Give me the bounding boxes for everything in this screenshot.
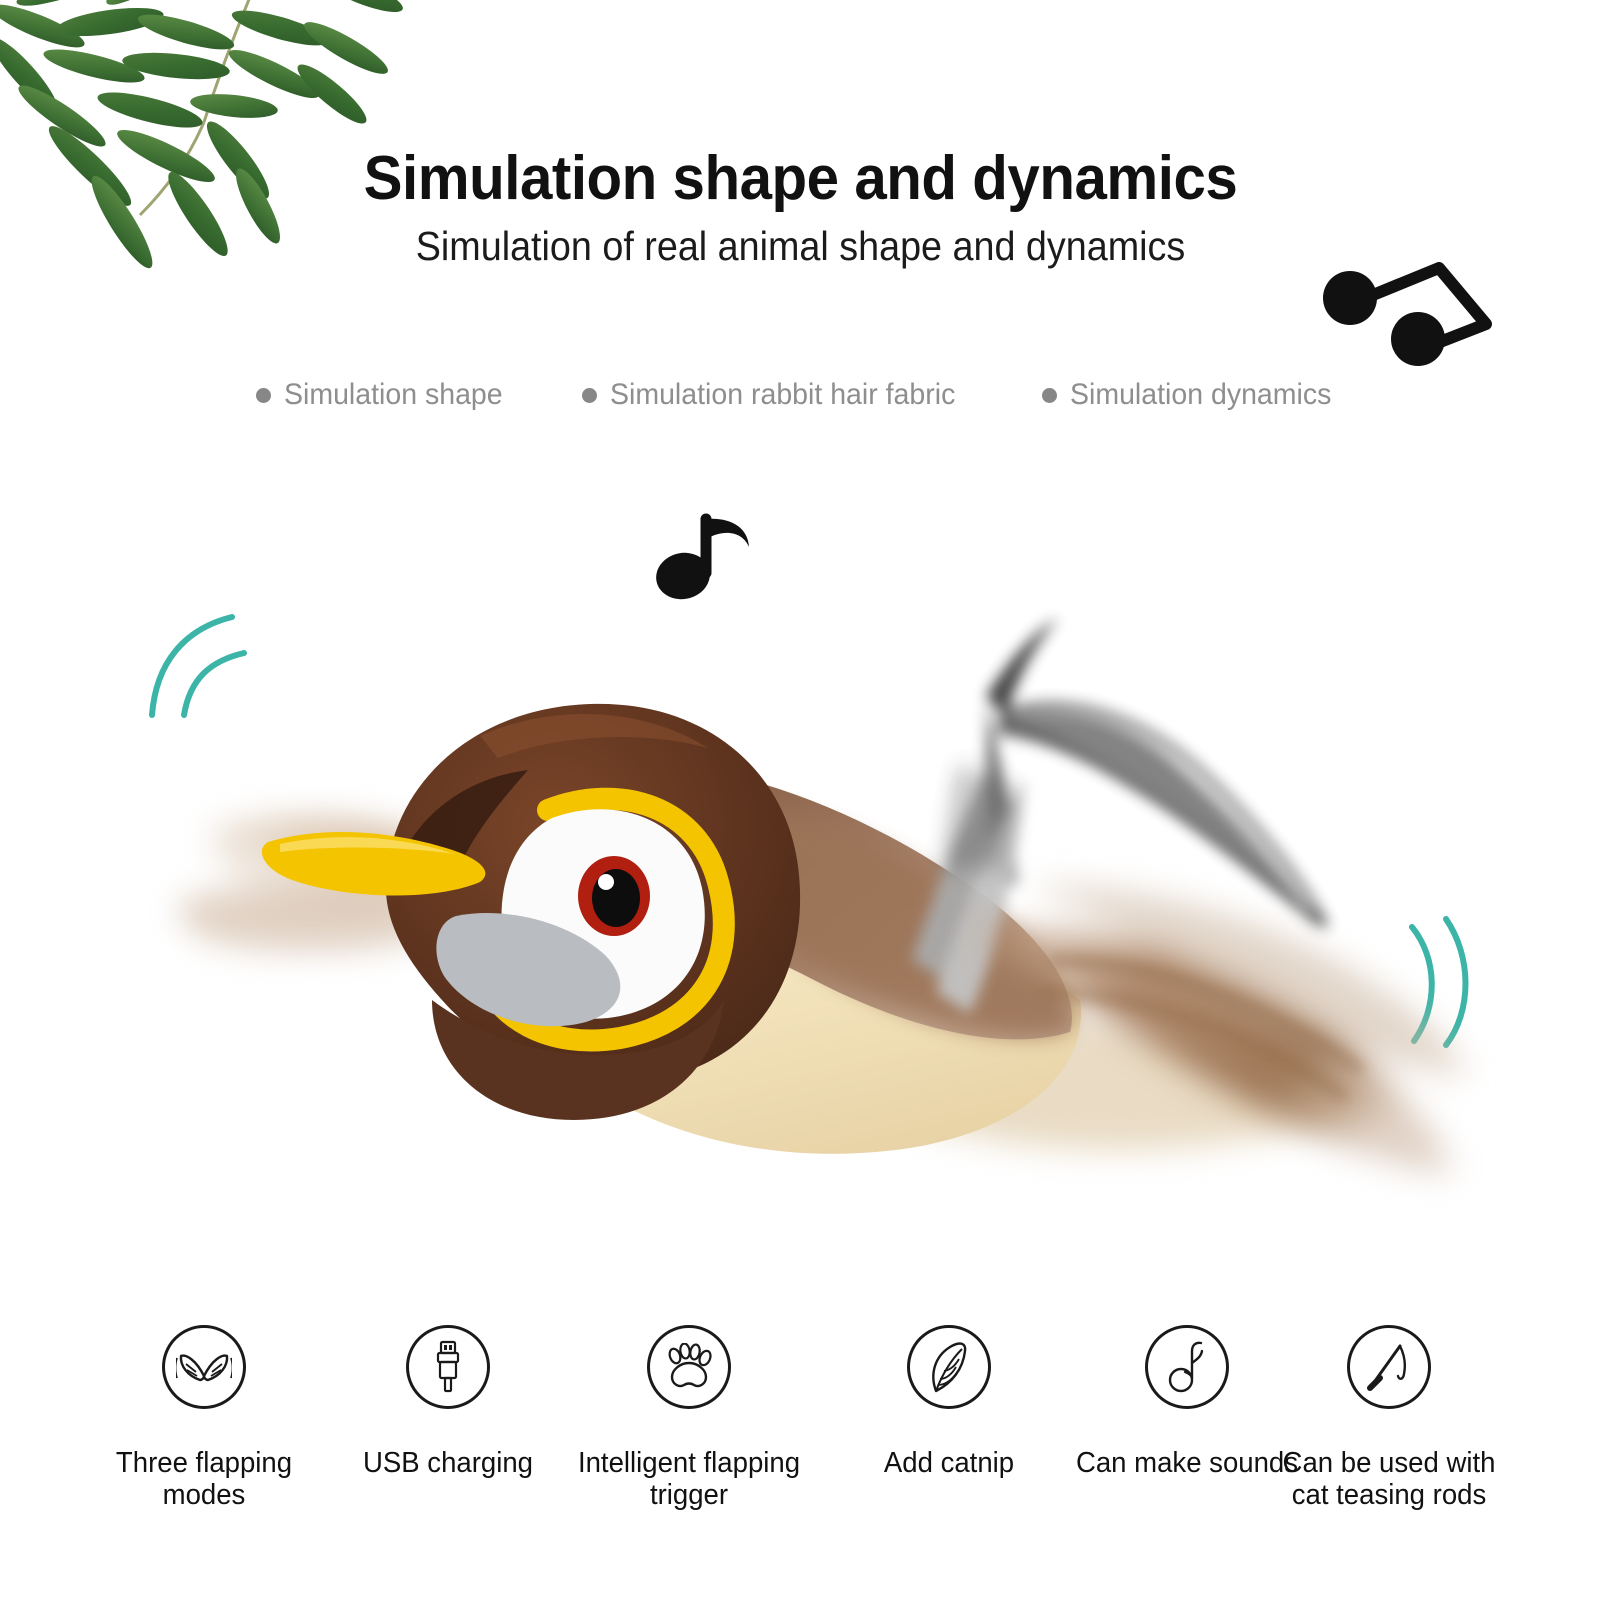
leaf-icon-circle — [907, 1325, 991, 1409]
teasing-rod-icon-circle — [1347, 1325, 1431, 1409]
usb-plug-icon-circle — [406, 1325, 490, 1409]
flapping-wings-icon — [176, 1346, 232, 1388]
page-subtitle: Simulation of real animal shape and dyna… — [64, 223, 1537, 270]
feature-intelligent-flapping-trigger[interactable]: Intelligent flapping trigger — [564, 1300, 814, 1512]
feature-label: Intelligent flapping trigger — [570, 1447, 808, 1512]
eighth-music-note-icon — [652, 505, 757, 600]
bullet-label: Simulation dynamics — [1070, 378, 1331, 412]
bullet-item-simulation-dynamics: Simulation dynamics — [1042, 378, 1345, 412]
bullet-label: Simulation rabbit hair fabric — [610, 378, 955, 412]
bird-eye — [578, 856, 650, 936]
flapping-wings-icon-circle — [162, 1325, 246, 1409]
music-note-icon-circle — [1145, 1325, 1229, 1409]
paw-print-icon-circle — [647, 1325, 731, 1409]
music-note-icon — [1168, 1341, 1206, 1393]
bullet-label: Simulation shape — [284, 378, 503, 412]
feature-label: Add catnip — [830, 1447, 1068, 1479]
teasing-rod-icon — [1366, 1342, 1412, 1392]
feature-icon-row: Three flapping modes USB charging — [0, 1300, 1601, 1560]
flapping-bird-cat-toy — [150, 600, 1510, 1220]
paw-print-icon — [664, 1343, 714, 1391]
feature-cat-teasing-rods[interactable]: Can be used with cat teasing rods — [1264, 1300, 1514, 1512]
feature-label: USB charging — [329, 1447, 567, 1479]
feature-usb-charging[interactable]: USB charging — [323, 1300, 573, 1479]
bullet-item-simulation-shape: Simulation shape — [256, 378, 514, 412]
feature-bullet-row: Simulation shape Simulation rabbit hair … — [0, 378, 1601, 412]
page-title: Simulation shape and dynamics — [48, 143, 1553, 214]
product-marketing-page: Simulation shape and dynamics Simulation… — [0, 0, 1601, 1601]
bullet-dot-icon — [582, 388, 597, 403]
usb-plug-icon — [431, 1340, 465, 1394]
feature-add-catnip[interactable]: Add catnip — [824, 1300, 1074, 1479]
double-music-note-icon — [1318, 262, 1498, 372]
leaf-icon — [928, 1341, 970, 1393]
bullet-dot-icon — [1042, 388, 1057, 403]
feature-three-flapping-modes[interactable]: Three flapping modes — [79, 1300, 329, 1512]
bullet-item-rabbit-hair-fabric: Simulation rabbit hair fabric — [582, 378, 974, 412]
feature-label: Three flapping modes — [85, 1447, 323, 1512]
feature-label: Can be used with cat teasing rods — [1270, 1447, 1508, 1512]
bullet-dot-icon — [256, 388, 271, 403]
